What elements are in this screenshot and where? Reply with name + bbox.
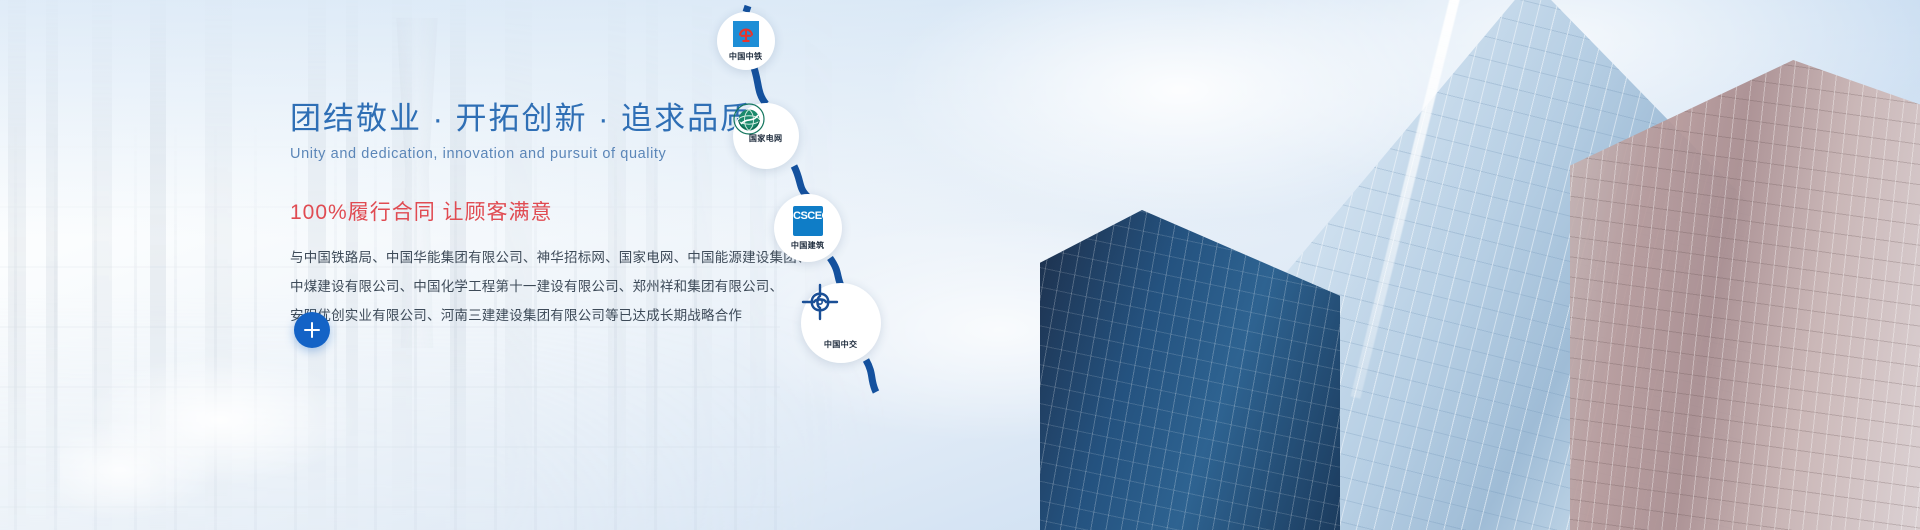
partner-badge-cccc[interactable]: 中国中交 — [801, 283, 881, 363]
partner-badge-state-grid[interactable]: 国家电网 — [733, 103, 799, 169]
partner-badge-cscec[interactable]: CSCEC 中国建筑 — [774, 194, 842, 262]
partner-badge-label: 国家电网 — [749, 132, 782, 143]
partner-badge-label: 中国中铁 — [729, 50, 762, 61]
rail-logo — [733, 21, 759, 47]
smoke-plume — [60, 300, 420, 530]
cccc-logo — [822, 297, 860, 335]
partner-logo-chain: 中国中铁 国家电网 CSCEC 中国建筑 — [690, 0, 1110, 530]
cscec-logo: CSCEC — [793, 206, 823, 236]
partner-badge-china-railway[interactable]: 中国中铁 — [717, 12, 775, 70]
hero-banner: 团结敬业 · 开拓创新 · 追求品质 Unity and dedication,… — [0, 0, 1920, 530]
cscec-logo-text: CSCEC — [793, 210, 829, 222]
chain-connector-lines — [690, 0, 1110, 530]
partner-badge-label: 中国建筑 — [791, 239, 824, 250]
read-more-plus-button[interactable] — [294, 312, 330, 348]
partner-badge-label: 中国中交 — [824, 338, 857, 349]
